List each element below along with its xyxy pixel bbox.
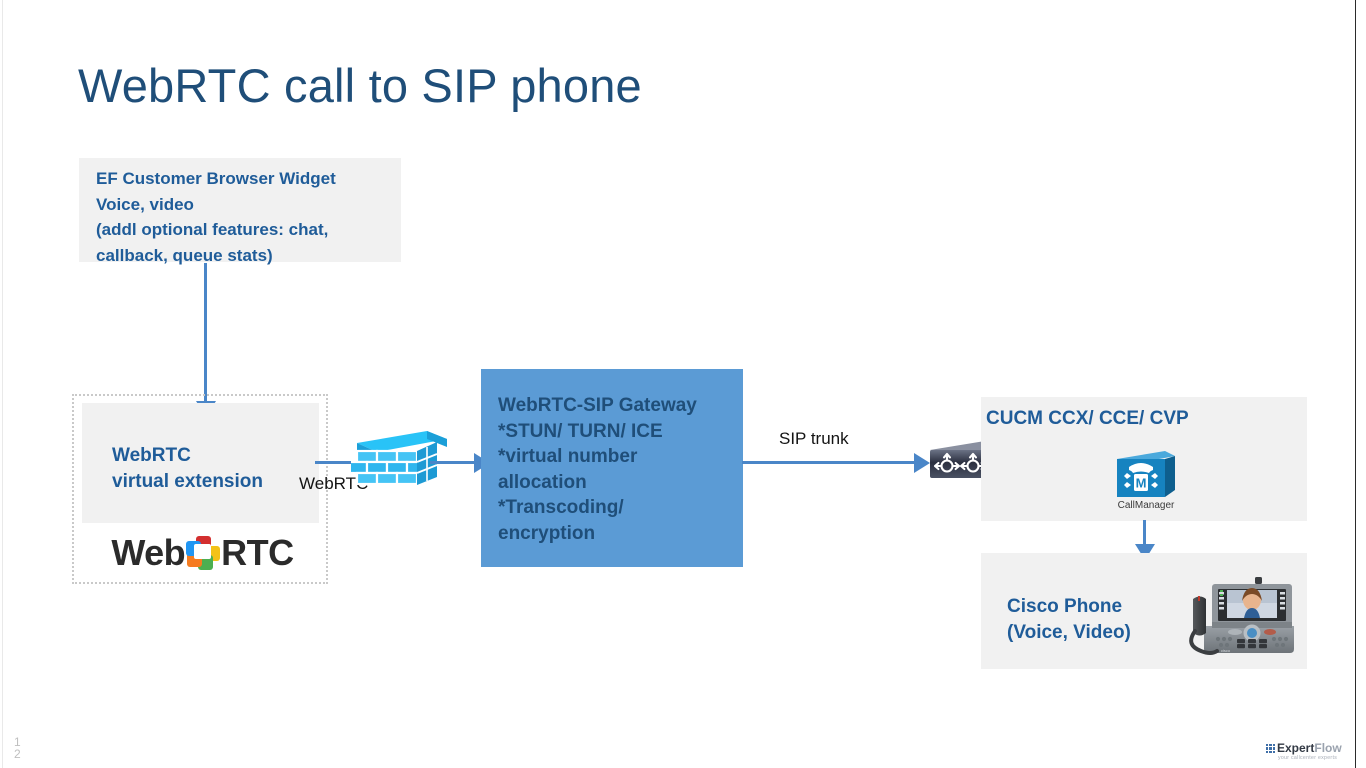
arrow-shaft xyxy=(204,263,207,403)
webrtc-box-line-1: WebRTC xyxy=(112,443,263,469)
webrtc-virtual-extension-box: WebRTC virtual extension xyxy=(82,403,319,523)
cucm-panel: CUCM CCX/ CCE/ CVP M xyxy=(981,397,1307,521)
webrtc-logo-text-right: RTC xyxy=(221,535,294,571)
gateway-line-5: *Transcoding/ xyxy=(498,495,743,521)
callout-line-3: (addl optional features: chat, xyxy=(96,217,389,243)
callout-line-2: Voice, video xyxy=(96,192,389,218)
arrow-gateway-to-switch xyxy=(742,453,934,473)
connector-label-sip-trunk: SIP trunk xyxy=(779,429,849,449)
phone-line-1: Cisco Phone xyxy=(1007,594,1131,620)
phone-label: Cisco Phone (Voice, Video) xyxy=(1007,594,1131,646)
gateway-line-6: encryption xyxy=(498,521,743,547)
callmanager-icon: M xyxy=(1113,449,1179,501)
callmanager-badge-letter: M xyxy=(1136,476,1147,491)
page-number-line-2: 2 xyxy=(14,748,21,760)
arrow-shaft xyxy=(742,461,918,464)
expertflow-logo: ExpertFlow your callcenter experts xyxy=(1266,742,1350,762)
webrtc-pinwheel-icon xyxy=(186,536,220,570)
logo-wordmark: ExpertFlow xyxy=(1277,742,1342,755)
logo-word-flow: Flow xyxy=(1314,741,1341,755)
webrtc-box-line-2: virtual extension xyxy=(112,469,263,495)
gateway-line-2: *STUN/ TURN/ ICE xyxy=(498,419,743,445)
callout-browser-widget: EF Customer Browser Widget Voice, video … xyxy=(79,158,401,262)
webrtc-logo-text-left: Web xyxy=(111,535,185,571)
callout-line-1: EF Customer Browser Widget xyxy=(96,166,389,192)
cisco-ip-video-phone-icon: cisco xyxy=(1171,573,1296,663)
callmanager-caption: CallManager xyxy=(1086,500,1206,511)
page-title: WebRTC call to SIP phone xyxy=(78,58,642,113)
slide-left-border xyxy=(2,0,3,768)
arrow-shaft xyxy=(430,461,478,464)
logo-grid-icon xyxy=(1266,744,1275,753)
gateway-line-3: *virtual number xyxy=(498,444,743,470)
logo-tagline: your callcenter experts xyxy=(1278,755,1337,761)
gateway-line-4: allocation xyxy=(498,470,743,496)
slide-canvas: WebRTC call to SIP phone EF Customer Bro… xyxy=(0,0,1366,768)
slide-right-border xyxy=(1355,0,1356,768)
webrtc-logo: Web RTC xyxy=(100,530,305,575)
cisco-phone-panel: Cisco Phone (Voice, Video) xyxy=(981,553,1307,669)
arrow-shaft xyxy=(1143,520,1146,546)
page-number: 1 2 xyxy=(14,736,21,760)
logo-word-expert: Expert xyxy=(1277,741,1314,755)
svg-text:cisco: cisco xyxy=(1221,648,1231,653)
phone-line-2: (Voice, Video) xyxy=(1007,620,1131,646)
gateway-line-1: WebRTC-SIP Gateway xyxy=(498,393,743,419)
callout-line-4: callback, queue stats) xyxy=(96,243,389,269)
cucm-heading: CUCM CCX/ CCE/ CVP xyxy=(986,408,1189,430)
webrtc-box-label: WebRTC virtual extension xyxy=(112,443,263,495)
webrtc-sip-gateway-box: WebRTC-SIP Gateway *STUN/ TURN/ ICE *vir… xyxy=(481,369,743,567)
